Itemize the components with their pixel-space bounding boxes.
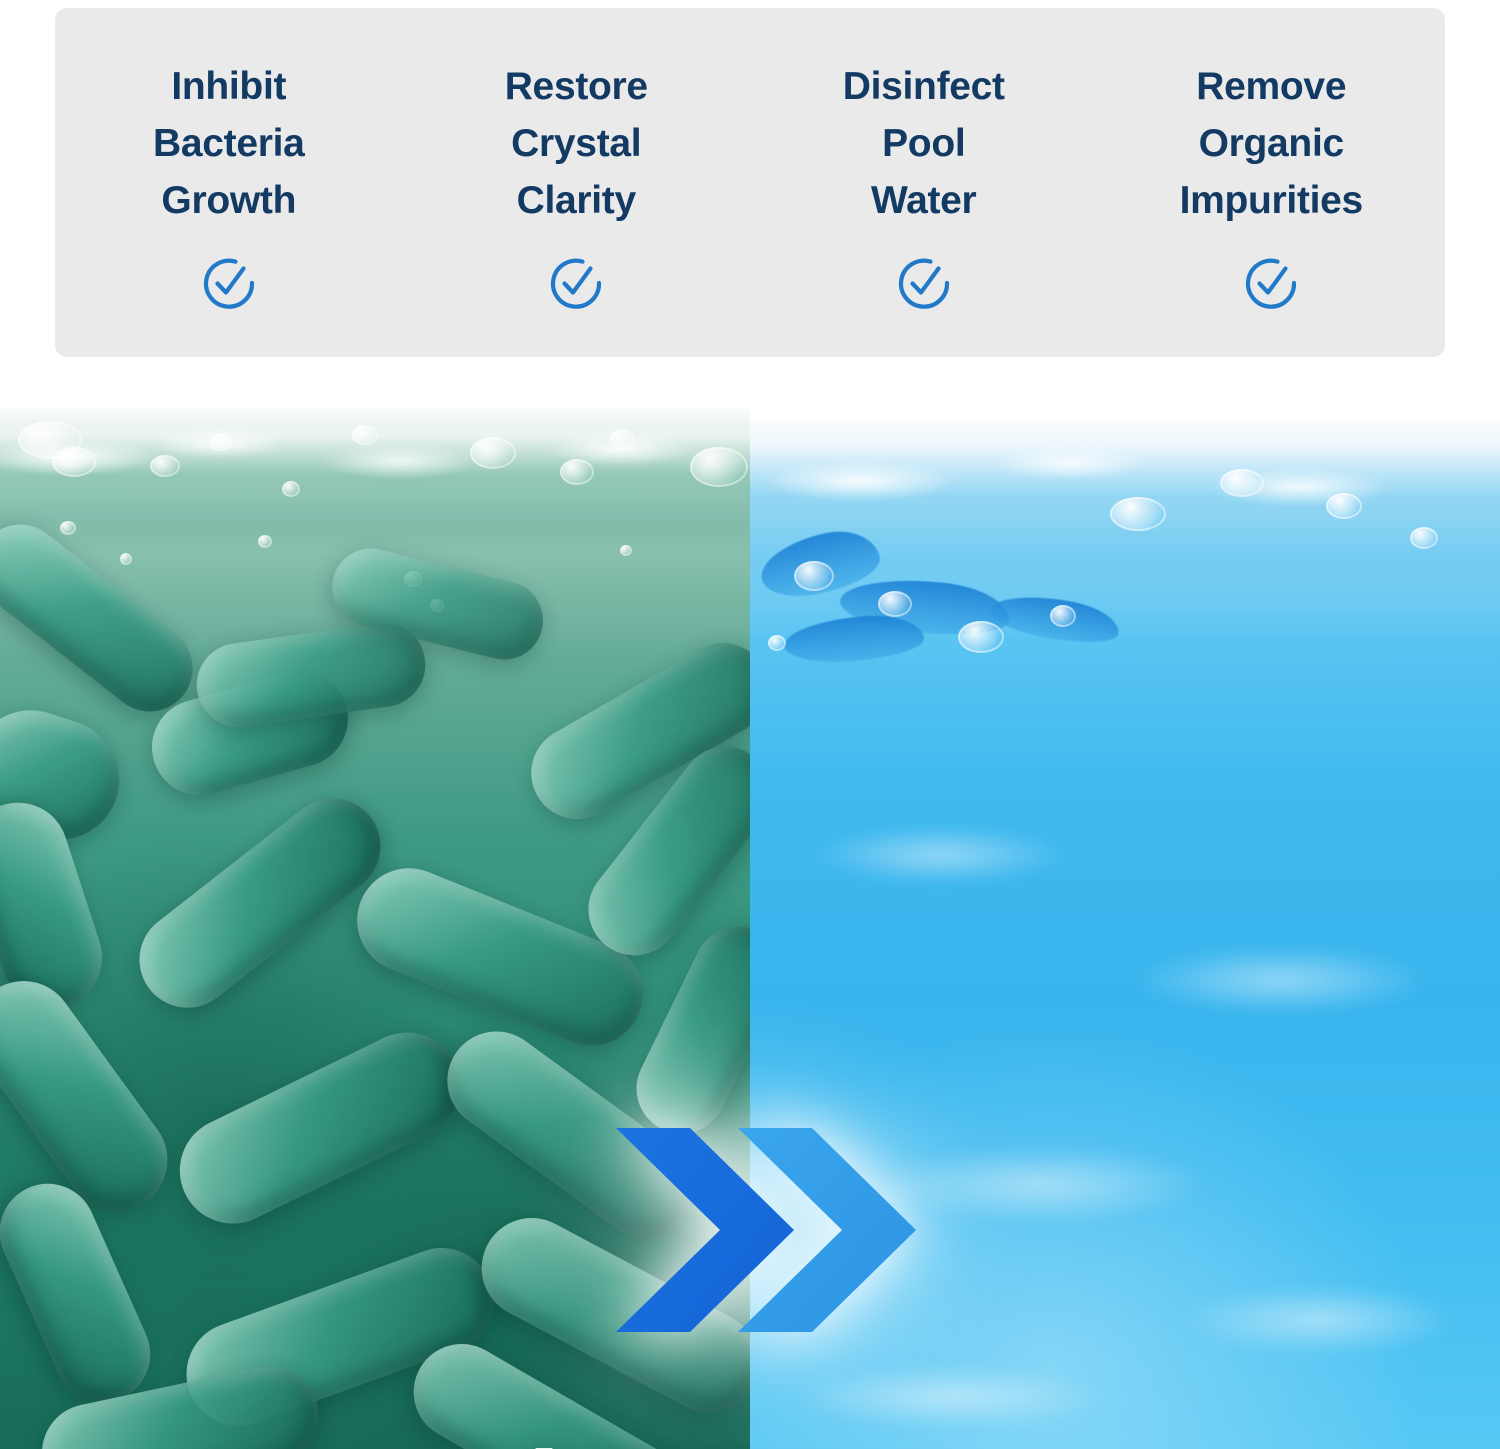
bubble xyxy=(60,521,76,535)
water-caustic xyxy=(1180,1285,1460,1355)
bubble xyxy=(470,437,516,469)
check-circle-icon xyxy=(1243,255,1299,311)
infographic-root: Inhibit Bacteria Growth Restore Crystal … xyxy=(0,0,1500,1449)
bubble xyxy=(150,455,180,477)
bubble xyxy=(1220,469,1264,497)
benefit-title: Restore Crystal Clarity xyxy=(505,58,648,229)
bacteria-rod xyxy=(162,1015,478,1242)
bubble xyxy=(1326,493,1362,519)
bacteria-rod xyxy=(191,617,430,732)
water-caustic xyxy=(1130,945,1430,1015)
headline-line-1: Improve xyxy=(0,1430,1500,1449)
bubble xyxy=(878,591,912,617)
bubble xyxy=(258,535,272,548)
bubble xyxy=(1050,605,1076,627)
benefit-column-restore-crystal-clarity: Restore Crystal Clarity xyxy=(403,8,751,357)
bubble xyxy=(610,429,634,449)
hero-headline: Improve Water Quality xyxy=(0,1430,1500,1449)
before-after-water-image: Improve Water Quality xyxy=(0,385,1500,1449)
bubble xyxy=(620,545,632,556)
water-splash xyxy=(783,612,926,666)
green-water-surface xyxy=(0,403,750,553)
bubble xyxy=(560,459,594,485)
benefit-column-disinfect-pool-water: Disinfect Pool Water xyxy=(750,8,1098,357)
check-circle-icon xyxy=(896,255,952,311)
benefit-column-remove-organic-impurities: Remove Organic Impurities xyxy=(1098,8,1446,357)
bubble xyxy=(120,553,132,565)
benefits-card: Inhibit Bacteria Growth Restore Crystal … xyxy=(55,8,1445,357)
benefit-title: Remove Organic Impurities xyxy=(1180,58,1363,229)
water-caustic xyxy=(810,825,1070,885)
check-circle-icon xyxy=(548,255,604,311)
bubble xyxy=(1110,497,1166,531)
benefit-title: Inhibit Bacteria Growth xyxy=(153,58,305,229)
bubble xyxy=(690,447,748,487)
water-caustic xyxy=(790,1365,1110,1429)
bubble xyxy=(52,447,96,477)
bubble xyxy=(210,433,232,451)
bubble xyxy=(768,635,786,651)
double-chevron-right-icon xyxy=(598,1110,918,1350)
check-circle-icon xyxy=(201,255,257,311)
water-caustic xyxy=(870,1145,1210,1225)
bubble xyxy=(1410,527,1438,549)
bacteria-rod xyxy=(120,779,400,1027)
bubble xyxy=(794,561,834,591)
bubble xyxy=(352,425,378,445)
bubble xyxy=(282,481,300,497)
benefit-title: Disinfect Pool Water xyxy=(843,58,1005,229)
benefit-column-inhibit-bacteria-growth: Inhibit Bacteria Growth xyxy=(55,8,403,357)
bacteria-rod xyxy=(0,1168,166,1417)
bubble xyxy=(958,621,1004,653)
